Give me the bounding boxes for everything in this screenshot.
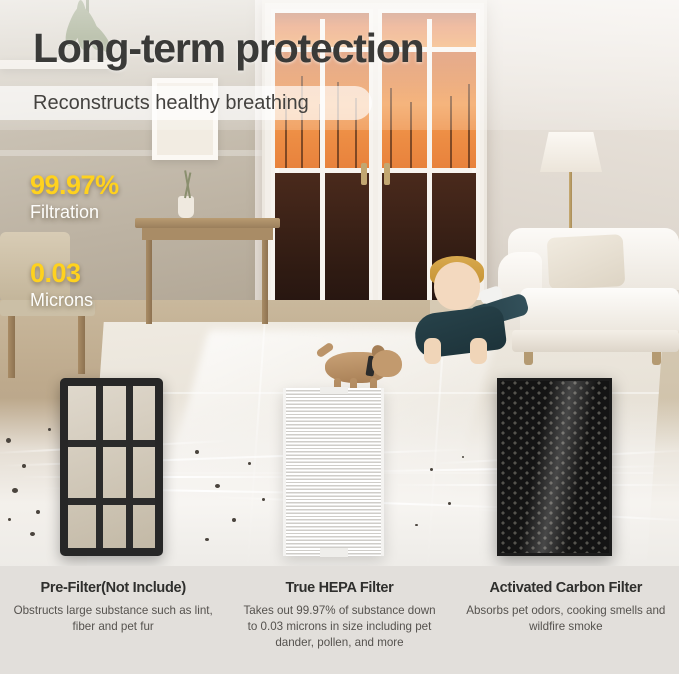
- child-arm: [470, 338, 487, 364]
- hepa-notch: [320, 387, 348, 394]
- puppy-head: [372, 350, 402, 377]
- dust-particle: [22, 464, 26, 468]
- caption-title: True HEPA Filter: [238, 580, 440, 596]
- carbon-filter-product-image: [497, 378, 612, 556]
- door-handle[interactable]: [384, 163, 390, 185]
- dust-particle: [36, 510, 40, 514]
- floor-lamp-shade: [540, 132, 602, 172]
- dust-particle: [215, 484, 220, 488]
- page-subtitle: Reconstructs healthy breathing: [33, 90, 309, 116]
- dust-particle: [195, 450, 199, 454]
- dust-particle: [248, 462, 251, 465]
- stat-filtration-value: 99.97%: [30, 170, 119, 200]
- product-feature-image: Long-term protection Reconstructs health…: [0, 0, 679, 674]
- dust-particle: [8, 518, 11, 521]
- dust-particle: [262, 498, 265, 501]
- stat-filtration: 99.97% Filtration: [30, 170, 119, 224]
- console-table-top: [135, 218, 280, 228]
- child-face: [434, 262, 480, 310]
- caption-hepa-filter: True HEPA Filter Takes out 99.97% of sub…: [226, 566, 452, 674]
- sofa-cushion: [547, 234, 626, 290]
- chair-leg: [78, 316, 85, 374]
- stat-filtration-label: Filtration: [30, 200, 119, 224]
- dust-particle: [415, 524, 418, 526]
- carbon-sheen: [500, 381, 609, 553]
- chair-leg: [8, 316, 15, 378]
- table-leg: [146, 240, 152, 324]
- dust-particle: [6, 438, 11, 443]
- sofa-leg: [652, 352, 661, 365]
- hepa-notch: [320, 548, 348, 557]
- hepa-filter-product-image: [283, 388, 384, 556]
- caption-description: Obstructs large substance such as lint, …: [12, 603, 214, 635]
- filter-captions: Pre-Filter(Not Include) Obstructs large …: [0, 566, 679, 674]
- dust-particle: [448, 502, 451, 505]
- dust-particle: [12, 488, 18, 493]
- sofa-base: [512, 330, 679, 352]
- sofa-leg: [524, 352, 533, 365]
- table-leg: [262, 240, 268, 324]
- stat-microns-value: 0.03: [30, 258, 93, 288]
- door-handle[interactable]: [361, 163, 367, 185]
- caption-carbon-filter: Activated Carbon Filter Absorbs pet odor…: [453, 566, 679, 674]
- dust-particle: [30, 532, 35, 536]
- stat-microns: 0.03 Microns: [30, 258, 93, 312]
- pre-filter-product-image: [60, 378, 163, 556]
- dust-particle: [205, 538, 209, 541]
- child-arm: [424, 338, 441, 364]
- caption-title: Pre-Filter(Not Include): [12, 580, 214, 596]
- caption-pre-filter: Pre-Filter(Not Include) Obstructs large …: [0, 566, 226, 674]
- caption-title: Activated Carbon Filter: [465, 580, 667, 596]
- page-title: Long-term protection: [33, 26, 424, 70]
- stat-microns-label: Microns: [30, 288, 93, 312]
- caption-description: Absorbs pet odors, cooking smells and wi…: [465, 603, 667, 635]
- caption-description: Takes out 99.97% of substance down to 0.…: [238, 603, 440, 651]
- dust-particle: [232, 518, 236, 522]
- wall-molding-upper: [0, 150, 300, 156]
- dust-particle: [462, 456, 464, 458]
- dust-particle: [430, 468, 433, 471]
- console-table-apron: [142, 228, 273, 240]
- vase: [178, 196, 194, 218]
- dust-particle: [48, 428, 51, 431]
